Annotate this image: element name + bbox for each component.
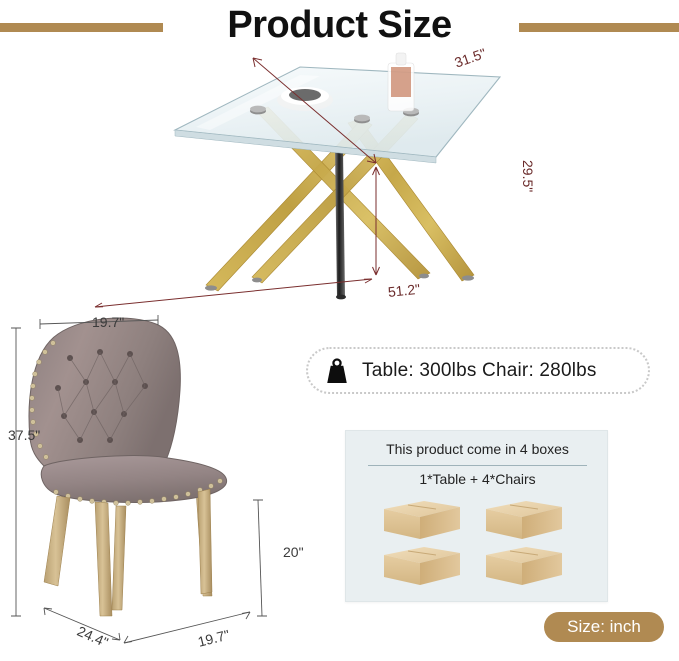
packaging-divider (368, 465, 587, 466)
table-svg (0, 45, 679, 315)
packaging-contents: 1*Table + 4*Chairs (346, 471, 609, 487)
table-illustration (0, 45, 679, 315)
packaging-panel: This product come in 4 boxes 1*Table + 4… (345, 430, 608, 602)
page-title: Product Size (0, 0, 679, 50)
chair-dim-back-width: 19.7" (92, 314, 124, 330)
box-item (384, 547, 460, 585)
box-item (486, 547, 562, 585)
chair-illustration (0, 310, 330, 656)
box-item (384, 501, 460, 539)
glass-tabletop (175, 67, 500, 163)
chair-dim-total-height: 37.5" (8, 427, 40, 443)
box-item (486, 501, 562, 539)
chair-dim-seat-height: 20" (283, 544, 304, 560)
chair-legs (112, 490, 212, 610)
product-size-infographic: Product Size (0, 0, 679, 656)
unit-badge: Size: inch (544, 612, 664, 642)
chair-svg (0, 310, 330, 656)
table-dim-height: 29.5" (520, 160, 536, 192)
packaging-title: This product come in 4 boxes (346, 441, 609, 457)
chair-back (29, 318, 180, 466)
weight-capacity-badge: Table: 300lbs Chair: 280lbs (306, 347, 650, 394)
weight-capacity-text: Table: 300lbs Chair: 280lbs (362, 360, 597, 382)
table-dim-width: 51.2" (387, 281, 421, 300)
chair-front-legs (44, 489, 212, 616)
packaging-box-illustrations (378, 497, 578, 593)
